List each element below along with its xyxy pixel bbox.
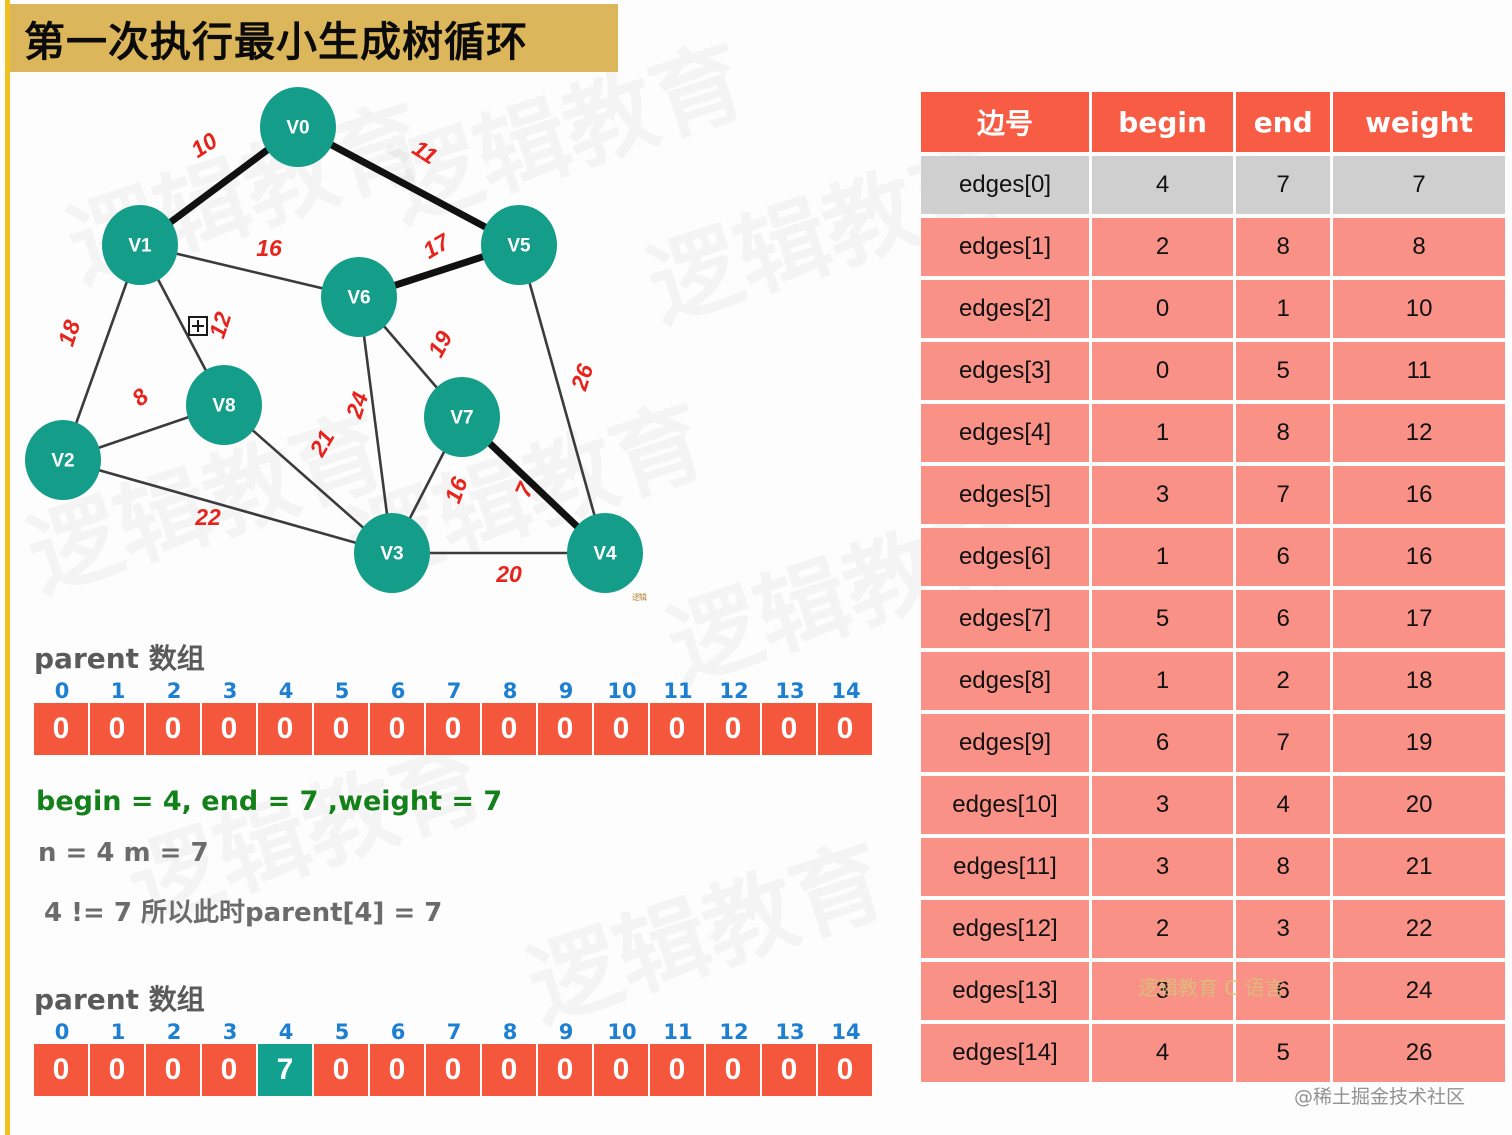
edges-table-cell-end: 8 (1236, 218, 1330, 276)
graph-node-label-V2: V2 (51, 451, 74, 472)
parent-array-cell-1[interactable]: 0 (34, 703, 88, 755)
parent-array-index-1: 9 (538, 679, 594, 703)
edges-table-row[interactable]: edges[14]4526 (921, 1024, 1505, 1082)
parent-array-index-2: 13 (762, 1020, 818, 1044)
parent-array-cell-2[interactable]: 0 (370, 1044, 424, 1096)
edges-table-cell-begin: 3 (1092, 466, 1233, 524)
parent-array-index-2: 3 (202, 1020, 258, 1044)
graph-node-label-V0: V0 (286, 118, 309, 139)
graph-edge-V2-V3 (63, 460, 392, 553)
edges-table-cell-begin: 3 (1092, 838, 1233, 896)
graph-edge-weight-V2-V3: 22 (194, 504, 221, 530)
parent-array-index-2: 1 (90, 1020, 146, 1044)
parent-array-block-1: parent 数组 01234567891011121314 000000000… (34, 637, 874, 755)
edges-table-cell-begin: 2 (1092, 218, 1233, 276)
edges-table-row[interactable]: edges[6]1616 (921, 528, 1505, 586)
edges-table-cell-weight: 21 (1333, 838, 1505, 896)
graph-edge-weight-V2-V8: 8 (127, 383, 154, 411)
edges-table-cell-begin: 6 (1092, 714, 1233, 772)
parent-array-title-1: parent 数组 (34, 637, 874, 677)
edges-table-row[interactable]: edges[8]1218 (921, 652, 1505, 710)
edges-table-cell-weight: 19 (1333, 714, 1505, 772)
edges-table-cell-begin: 1 (1092, 404, 1233, 462)
edges-table-cell-label: edges[5] (921, 466, 1089, 524)
edges-table-cell-weight: 17 (1333, 590, 1505, 648)
edges-table-cell-end: 7 (1236, 156, 1330, 214)
graph-edge-weight-V1-V2: 18 (53, 317, 86, 350)
graph-edge-weight-V7-V3: 16 (439, 473, 472, 506)
edges-table-cell-weight: 12 (1333, 404, 1505, 462)
edges-table-row[interactable]: edges[3]0511 (921, 342, 1505, 400)
graph-diagram: V0V1V2V3V4V5V6V7V8 101116171812819242126… (12, 80, 702, 610)
parent-array-cell-2[interactable]: 0 (762, 1044, 816, 1096)
parent-array-cell-1[interactable]: 0 (818, 703, 872, 755)
graph-edge-weight-V6-V5: 17 (418, 228, 454, 264)
parent-array-index-1: 0 (34, 679, 90, 703)
edges-table-cell-label: edges[0] (921, 156, 1089, 214)
parent-array-cell-2[interactable]: 0 (426, 1044, 480, 1096)
edges-table-cell-label: edges[10] (921, 776, 1089, 834)
note-begin-end-weight: begin = 4, end = 7 ,weight = 7 (36, 786, 502, 817)
parent-array-cell-1[interactable]: 0 (202, 703, 256, 755)
edges-table-cell-begin: 0 (1092, 342, 1233, 400)
parent-array-cell-1[interactable]: 0 (762, 703, 816, 755)
parent-array-cell-row-1: 000000000000000 (34, 703, 874, 755)
edges-table-cell-weight: 26 (1333, 1024, 1505, 1082)
crosshair-cursor-icon (188, 316, 208, 336)
parent-array-index-1: 13 (762, 679, 818, 703)
parent-array-cell-1[interactable]: 0 (370, 703, 424, 755)
parent-array-cell-2[interactable]: 0 (146, 1044, 200, 1096)
edges-table-cell-label: edges[8] (921, 652, 1089, 710)
edges-table-row[interactable]: edges[10]3420 (921, 776, 1505, 834)
edges-table-cell-begin: 0 (1092, 280, 1233, 338)
edges-table-cell-label: edges[4] (921, 404, 1089, 462)
edges-table-cell-label: edges[12] (921, 900, 1089, 958)
page-title: 第一次执行最小生成树循环 (10, 8, 528, 68)
edges-table-row[interactable]: edges[11]3821 (921, 838, 1505, 896)
parent-array-block-2: parent 数组 01234567891011121314 000070000… (34, 978, 874, 1096)
parent-array-cell-2[interactable]: 0 (90, 1044, 144, 1096)
graph-node-label-V5: V5 (507, 236, 531, 257)
edges-table-row[interactable]: edges[4]1812 (921, 404, 1505, 462)
edges-table-cell-end: 4 (1236, 776, 1330, 834)
edges-table-cell-end: 8 (1236, 838, 1330, 896)
edges-table-cell-end: 7 (1236, 466, 1330, 524)
edges-table-cell-end: 7 (1236, 714, 1330, 772)
edges-table-cell-label: edges[11] (921, 838, 1089, 896)
edges-table-row[interactable]: edges[9]6719 (921, 714, 1505, 772)
parent-array-index-1: 8 (482, 679, 538, 703)
edges-table-cell-weight: 18 (1333, 652, 1505, 710)
graph-node-label-V4: V4 (593, 544, 617, 565)
edges-table-cell-weight: 11 (1333, 342, 1505, 400)
graph-corner-mark: 逻辑 (632, 592, 646, 603)
edges-table-row[interactable]: edges[5]3716 (921, 466, 1505, 524)
page-root: 逻辑教育 逻辑教育 逻辑教育 逻辑教育 逻辑教育 逻辑教育 逻辑教育 逻辑教育 … (0, 0, 1512, 1135)
graph-weights-layer: 1011161718128192421262216720 (53, 127, 599, 587)
edges-table-cell-weight: 22 (1333, 900, 1505, 958)
parent-array-index-1: 6 (370, 679, 426, 703)
graph-edge-weight-V6-V7: 19 (423, 326, 458, 361)
edges-table-cell-end: 5 (1236, 1024, 1330, 1082)
parent-array-index-2: 9 (538, 1020, 594, 1044)
edges-table-cell-weight: 10 (1333, 280, 1505, 338)
edges-table-row[interactable]: edges[2]0110 (921, 280, 1505, 338)
edges-table-cell-weight: 16 (1333, 528, 1505, 586)
parent-array-index-2: 5 (314, 1020, 370, 1044)
parent-array-cell-2[interactable]: 0 (706, 1044, 760, 1096)
edges-table-header-row: 边号beginendweight (921, 92, 1505, 152)
edges-table-header-cell: 边号 (921, 92, 1089, 152)
edges-table-cell-begin: 1 (1092, 528, 1233, 586)
parent-array-index-2: 11 (650, 1020, 706, 1044)
parent-array-index-2: 10 (594, 1020, 650, 1044)
parent-array-cell-2[interactable]: 0 (538, 1044, 592, 1096)
edges-table-cell-label: edges[9] (921, 714, 1089, 772)
note-parent-assignment: 4 != 7 所以此时parent[4] = 7 (44, 892, 442, 929)
parent-array-cell-2[interactable]: 0 (314, 1044, 368, 1096)
graph-edge-weight-V1-V0: 10 (186, 127, 222, 163)
graph-edge-weight-V5-V4: 26 (565, 361, 598, 395)
edges-table-header-cell: end (1236, 92, 1330, 152)
edges-table-cell-label: edges[2] (921, 280, 1089, 338)
edges-table-header-cell: weight (1333, 92, 1505, 152)
parent-array-index-1: 7 (426, 679, 482, 703)
note-n-m: n = 4 m = 7 (38, 838, 209, 868)
parent-array-index-1: 2 (146, 679, 202, 703)
edges-table-cell-begin: 5 (1092, 590, 1233, 648)
edges-table-cell-label: edges[6] (921, 528, 1089, 586)
edges-table-cell-label: edges[1] (921, 218, 1089, 276)
edges-table-cell-end: 6 (1236, 528, 1330, 586)
edges-table-row[interactable]: edges[0]477 (921, 156, 1505, 214)
parent-array-cell-1[interactable]: 0 (426, 703, 480, 755)
corner-watermark: @稀土掘金技术社区 (1294, 1082, 1465, 1109)
parent-array-cell-1[interactable]: 0 (538, 703, 592, 755)
graph-edge-weight-V6-V3: 24 (340, 389, 373, 423)
parent-array-cell-1[interactable]: 0 (258, 703, 312, 755)
parent-array-cell-2[interactable]: 0 (202, 1044, 256, 1096)
parent-array-cell-2[interactable]: 0 (594, 1044, 648, 1096)
parent-array-index-2: 0 (34, 1020, 90, 1044)
parent-array-index-1: 4 (258, 679, 314, 703)
edges-table-cell-end: 5 (1236, 342, 1330, 400)
parent-array-index-1: 10 (594, 679, 650, 703)
parent-array-index-1: 14 (818, 679, 874, 703)
edges-table-cell-begin: 1 (1092, 652, 1233, 710)
graph-edge-weight-V8-V3: 21 (304, 425, 340, 461)
graph-edge-weight-V1-V6: 16 (256, 235, 282, 261)
parent-array-cell-1[interactable]: 0 (482, 703, 536, 755)
edges-table-cell-end: 3 (1236, 900, 1330, 958)
edges-table-header-cell: begin (1092, 92, 1233, 152)
parent-array-cell-1[interactable]: 0 (706, 703, 760, 755)
parent-array-index-1: 12 (706, 679, 762, 703)
parent-array-cell-2[interactable]: 0 (650, 1044, 704, 1096)
edges-table-cell-weight: 20 (1333, 776, 1505, 834)
parent-array-cell-2[interactable]: 0 (34, 1044, 88, 1096)
edges-table-cell-begin: 2 (1092, 900, 1233, 958)
edges-table-cell-label: edges[7] (921, 590, 1089, 648)
parent-array-index-1: 11 (650, 679, 706, 703)
graph-node-label-V7: V7 (450, 408, 473, 429)
graph-nodes-layer: V0V1V2V3V4V5V6V7V8 (25, 87, 643, 593)
parent-array-index-row-2: 01234567891011121314 (34, 1020, 874, 1044)
edges-table-cell-label: edges[14] (921, 1024, 1089, 1082)
graph-edge-V5-V4 (519, 245, 605, 553)
parent-array-cell-1[interactable]: 0 (90, 703, 144, 755)
parent-array-cell-row-2: 000070000000000 (34, 1044, 874, 1096)
mid-watermark: 逻辑教育 C 语言 (1138, 972, 1285, 1001)
parent-array-cell-2[interactable]: 0 (482, 1044, 536, 1096)
page-title-band: 第一次执行最小生成树循环 (10, 4, 618, 72)
edges-table-row[interactable]: edges[7]5617 (921, 590, 1505, 648)
edges-table-cell-end: 8 (1236, 404, 1330, 462)
parent-array-cell-1[interactable]: 0 (650, 703, 704, 755)
parent-array-index-1: 1 (90, 679, 146, 703)
edges-table-row[interactable]: edges[1]288 (921, 218, 1505, 276)
edges-table-cell-end: 2 (1236, 652, 1330, 710)
parent-array-cell-2[interactable]: 7 (258, 1044, 312, 1096)
parent-array-cell-1[interactable]: 0 (594, 703, 648, 755)
parent-array-cell-2[interactable]: 0 (818, 1044, 872, 1096)
parent-array-index-2: 8 (482, 1020, 538, 1044)
left-gold-rule (5, 0, 10, 1135)
edges-table-row[interactable]: edges[12]2322 (921, 900, 1505, 958)
parent-array-index-row-1: 01234567891011121314 (34, 679, 874, 703)
graph-node-label-V3: V3 (380, 544, 403, 565)
parent-array-cell-1[interactable]: 0 (314, 703, 368, 755)
parent-array-index-2: 4 (258, 1020, 314, 1044)
parent-array-index-1: 5 (314, 679, 370, 703)
parent-array-title-2: parent 数组 (34, 978, 874, 1018)
edges-table: 边号beginendweight edges[0]477edges[1]288e… (918, 88, 1508, 1086)
edges-table-cell-begin: 3 (1092, 776, 1233, 834)
graph-node-label-V1: V1 (128, 236, 152, 257)
edges-table-cell-weight: 7 (1333, 156, 1505, 214)
parent-array-index-1: 3 (202, 679, 258, 703)
parent-array-index-2: 12 (706, 1020, 762, 1044)
edges-table-body: edges[0]477edges[1]288edges[2]0110edges[… (921, 156, 1505, 1082)
edges-table-cell-weight: 24 (1333, 962, 1505, 1020)
edges-table-cell-begin: 4 (1092, 1024, 1233, 1082)
graph-node-label-V8: V8 (212, 396, 235, 417)
edges-table-cell-end: 1 (1236, 280, 1330, 338)
parent-array-index-2: 7 (426, 1020, 482, 1044)
graph-edge-weight-V1-V8: 12 (204, 309, 237, 342)
graph-edge-weight-V0-V5: 11 (408, 135, 442, 170)
edges-table-cell-begin: 4 (1092, 156, 1233, 214)
edges-table-cell-weight: 8 (1333, 218, 1505, 276)
parent-array-index-2: 6 (370, 1020, 426, 1044)
graph-edge-weight-V3-V4: 20 (495, 561, 522, 587)
edges-table-cell-weight: 16 (1333, 466, 1505, 524)
edges-table-cell-label: edges[3] (921, 342, 1089, 400)
graph-node-label-V6: V6 (347, 288, 370, 309)
edges-table-cell-label: edges[13] (921, 962, 1089, 1020)
graph-edge-weight-V7-V4: 7 (510, 478, 539, 502)
parent-array-index-2: 14 (818, 1020, 874, 1044)
parent-array-index-2: 2 (146, 1020, 202, 1044)
graph-svg: V0V1V2V3V4V5V6V7V8 101116171812819242126… (12, 80, 702, 610)
edges-table-cell-end: 6 (1236, 590, 1330, 648)
parent-array-cell-1[interactable]: 0 (146, 703, 200, 755)
